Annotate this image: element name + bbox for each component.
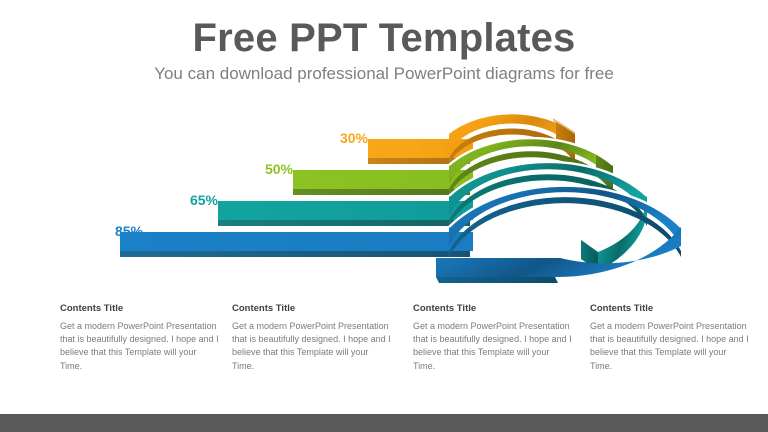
content-column-2-title: Contents Title: [232, 303, 392, 314]
percent-label-65: 65%: [168, 192, 218, 208]
content-column-4-title: Contents Title: [590, 303, 750, 314]
content-column-4-body: Get a modern PowerPoint Presentation tha…: [590, 320, 750, 372]
content-column-2-body: Get a modern PowerPoint Presentation tha…: [232, 320, 392, 372]
slide-canvas: Free PPT Templates You can download prof…: [0, 0, 768, 432]
content-column-3: Contents Title Get a modern PowerPoint P…: [413, 303, 573, 373]
page-subtitle: You can download professional PowerPoint…: [0, 64, 768, 84]
percent-label-50: 50%: [243, 161, 293, 177]
percent-label-30: 30%: [318, 130, 368, 146]
footer-bar: [0, 414, 768, 432]
content-column-1-title: Contents Title: [60, 303, 220, 314]
content-column-3-body: Get a modern PowerPoint Presentation tha…: [413, 320, 573, 372]
nested-arc-ribbon-diagram: [0, 108, 768, 298]
content-column-4: Contents Title Get a modern PowerPoint P…: [590, 303, 750, 373]
content-column-1: Contents Title Get a modern PowerPoint P…: [60, 303, 220, 373]
page-title: Free PPT Templates: [0, 16, 768, 60]
content-column-2: Contents Title Get a modern PowerPoint P…: [232, 303, 392, 373]
content-column-3-title: Contents Title: [413, 303, 573, 314]
content-column-1-body: Get a modern PowerPoint Presentation tha…: [60, 320, 220, 372]
percent-label-85: 85%: [93, 223, 143, 239]
